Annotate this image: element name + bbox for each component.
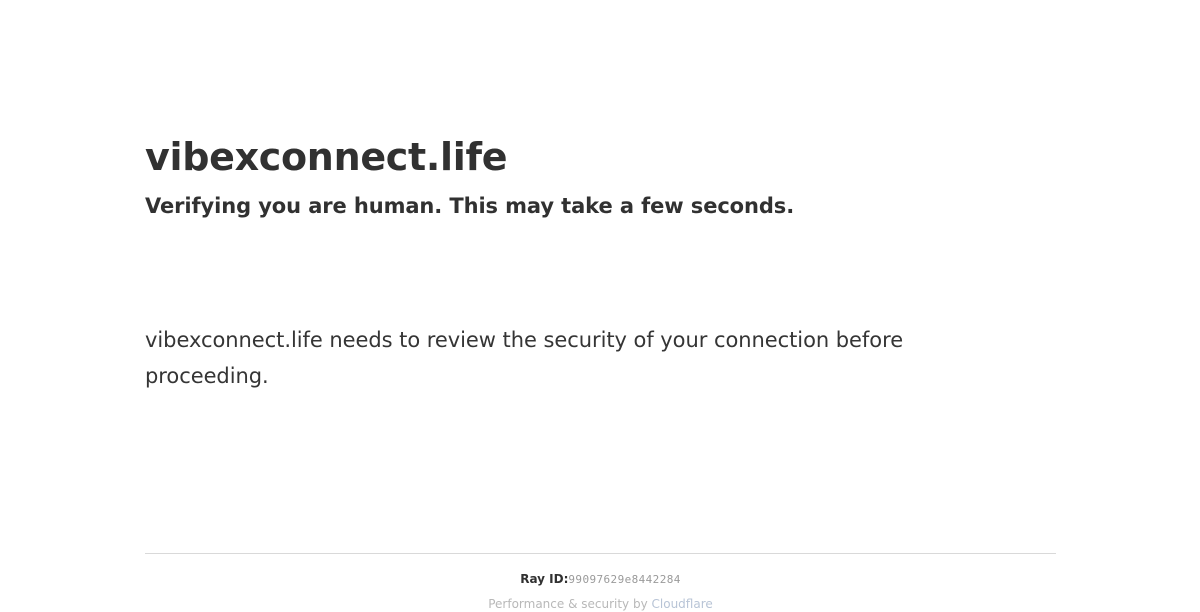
challenge-page: vibexconnect.life Verifying you are huma… — [0, 0, 1200, 600]
verification-status-text: Verifying you are human. This may take a… — [145, 192, 794, 220]
turnstile-challenge-widget[interactable] — [145, 240, 465, 310]
attribution-prefix: Performance & security by — [488, 597, 651, 611]
challenge-description: vibexconnect.life needs to review the se… — [145, 322, 945, 394]
footer-divider — [145, 553, 1056, 554]
ray-id-label: Ray ID: — [520, 572, 568, 586]
attribution-line: Performance & security by Cloudflare — [145, 596, 1056, 612]
page-title: vibexconnect.life — [145, 134, 507, 180]
cloudflare-link[interactable]: Cloudflare — [652, 597, 713, 611]
ray-id-line: Ray ID:99097629e8442284 — [145, 571, 1056, 588]
page-footer: Ray ID:99097629e8442284 Performance & se… — [145, 553, 1056, 612]
ray-id-value: 99097629e8442284 — [568, 573, 680, 586]
